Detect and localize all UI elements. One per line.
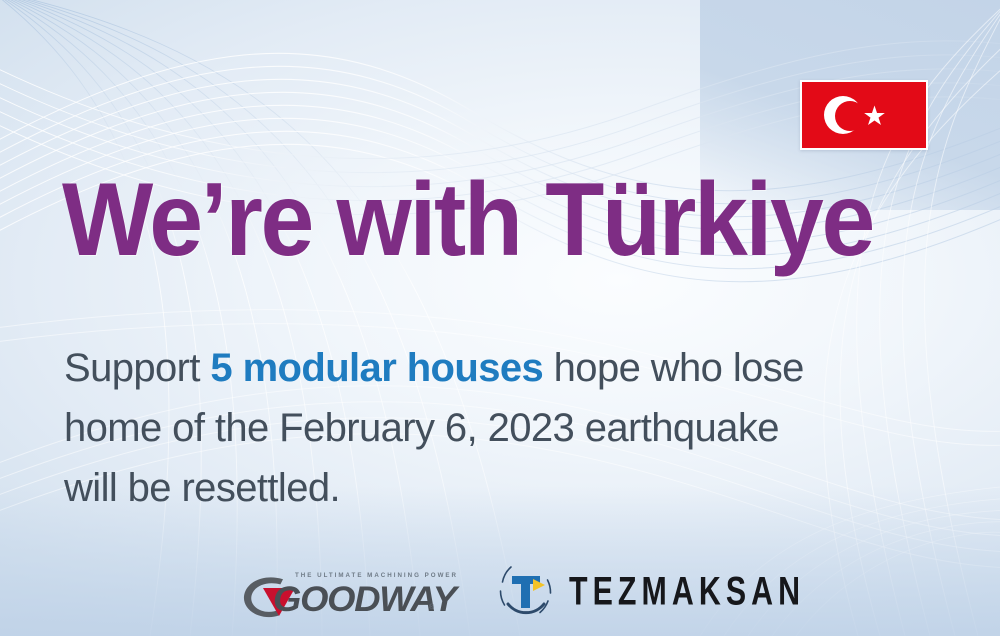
goodway-wordmark: GOODWAY <box>273 580 456 620</box>
turkey-flag <box>800 80 928 150</box>
body-line-1-prefix: Support <box>64 346 210 390</box>
goodway-logo: THE ULTIMATE MACHINING POWER GOODWAY ® <box>243 566 443 622</box>
body-highlight: 5 modular houses <box>210 346 543 390</box>
star-icon <box>864 105 885 126</box>
tezmaksan-emblem-icon <box>495 560 557 622</box>
tezmaksan-logo: TEZMAKSAN <box>495 560 757 622</box>
page-title: We’re with Türkiye <box>62 168 873 272</box>
body-line-2: home of the February 6, 2023 earthquake <box>64 398 914 458</box>
promo-banner: We’re with Türkiye Support 5 modular hou… <box>0 0 1000 636</box>
body-line-1-suffix: hope who lose <box>543 346 804 390</box>
body-copy: Support 5 modular houses hope who lose h… <box>64 338 914 518</box>
goodway-tagline: THE ULTIMATE MACHINING POWER <box>295 572 458 579</box>
flag-field <box>802 82 926 148</box>
body-line-1: Support 5 modular houses hope who lose <box>64 338 914 398</box>
tezmaksan-wordmark: TEZMAKSAN <box>569 568 805 614</box>
crescent-cutout <box>835 101 865 131</box>
logo-row: THE ULTIMATE MACHINING POWER GOODWAY ® <box>0 560 1000 622</box>
body-line-3: will be resettled. <box>64 458 914 518</box>
goodway-registered-mark: ® <box>429 604 434 611</box>
